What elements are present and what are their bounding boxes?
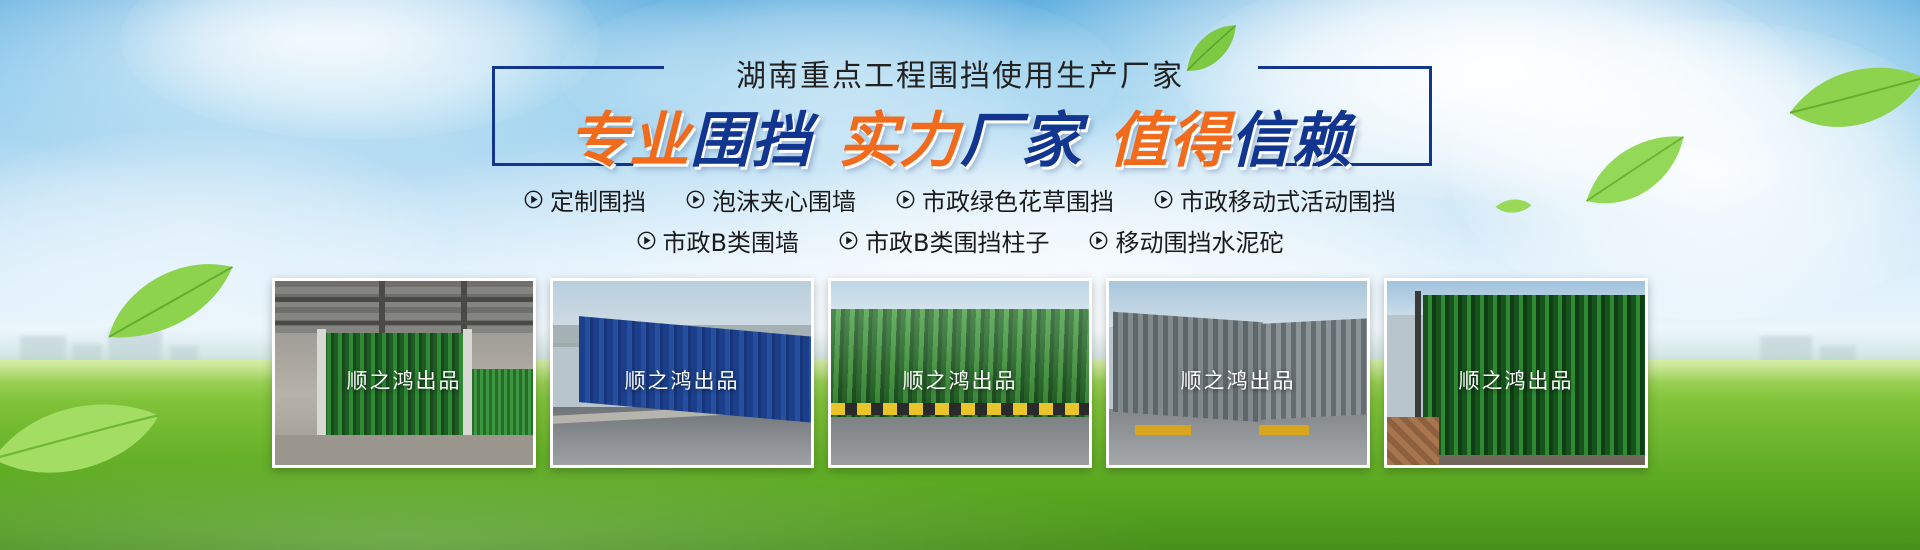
feature-row-1: 定制围挡 泡沫夹心围墙 市政绿色花草围挡 xyxy=(0,182,1920,217)
play-icon xyxy=(1154,190,1173,209)
feature-item[interactable]: 市政B类围挡柱子 xyxy=(839,223,1049,258)
feature-item[interactable]: 市政B类围墙 xyxy=(637,223,799,258)
feature-item[interactable]: 市政绿色花草围挡 xyxy=(896,182,1114,217)
product-photo[interactable]: 顺之鸿出品 xyxy=(1106,278,1370,468)
headline-segment: 信赖 xyxy=(1230,92,1352,179)
banner-header: 湖南重点工程围挡使用生产厂家 专业围挡实力厂家值得信赖 定制围挡 xyxy=(0,0,1920,250)
promo-banner: 湖南重点工程围挡使用生产厂家 专业围挡实力厂家值得信赖 定制围挡 xyxy=(0,0,1920,550)
play-icon xyxy=(637,231,656,250)
banner-subtitle: 湖南重点工程围挡使用生产厂家 xyxy=(0,51,1920,95)
headline-segment: 专业 xyxy=(568,92,690,179)
feature-item[interactable]: 移动围挡水泥砣 xyxy=(1089,223,1283,258)
play-icon xyxy=(1089,231,1108,250)
feature-item[interactable]: 定制围挡 xyxy=(524,182,646,217)
feature-label: 移动围挡水泥砣 xyxy=(1115,223,1283,258)
photo-watermark: 顺之鸿出品 xyxy=(831,365,1089,395)
play-icon xyxy=(524,190,543,209)
feature-label: 市政B类围墙 xyxy=(663,223,799,258)
headline-segment: 厂家 xyxy=(960,92,1082,179)
play-icon xyxy=(686,190,705,209)
feature-label: 市政移动式活动围挡 xyxy=(1180,182,1396,217)
headline-segment: 围挡 xyxy=(690,92,812,179)
feature-list: 定制围挡 泡沫夹心围墙 市政绿色花草围挡 xyxy=(0,182,1920,264)
photo-watermark: 顺之鸿出品 xyxy=(1387,365,1645,395)
photo-watermark: 顺之鸿出品 xyxy=(275,365,533,395)
product-photo[interactable]: 顺之鸿出品 xyxy=(828,278,1092,468)
product-photo-strip: 顺之鸿出品 顺之鸿出品 顺之鸿出品 xyxy=(0,278,1920,468)
feature-label: 市政绿色花草围挡 xyxy=(922,182,1114,217)
banner-headline: 专业围挡实力厂家值得信赖 xyxy=(0,92,1920,179)
feature-item[interactable]: 市政移动式活动围挡 xyxy=(1154,182,1396,217)
feature-label: 泡沫夹心围墙 xyxy=(712,182,856,217)
photo-watermark: 顺之鸿出品 xyxy=(553,365,811,395)
headline-segment: 值得 xyxy=(1108,92,1230,179)
product-photo[interactable]: 顺之鸿出品 xyxy=(1384,278,1648,468)
feature-label: 定制围挡 xyxy=(550,182,646,217)
product-photo[interactable]: 顺之鸿出品 xyxy=(550,278,814,468)
photo-watermark: 顺之鸿出品 xyxy=(1109,365,1367,395)
headline-segment: 实力 xyxy=(838,92,960,179)
feature-row-2: 市政B类围墙 市政B类围挡柱子 移动围挡水泥砣 xyxy=(0,223,1920,258)
product-photo[interactable]: 顺之鸿出品 xyxy=(272,278,536,468)
feature-label: 市政B类围挡柱子 xyxy=(865,223,1049,258)
feature-item[interactable]: 泡沫夹心围墙 xyxy=(686,182,856,217)
play-icon xyxy=(839,231,858,250)
play-icon xyxy=(896,190,915,209)
